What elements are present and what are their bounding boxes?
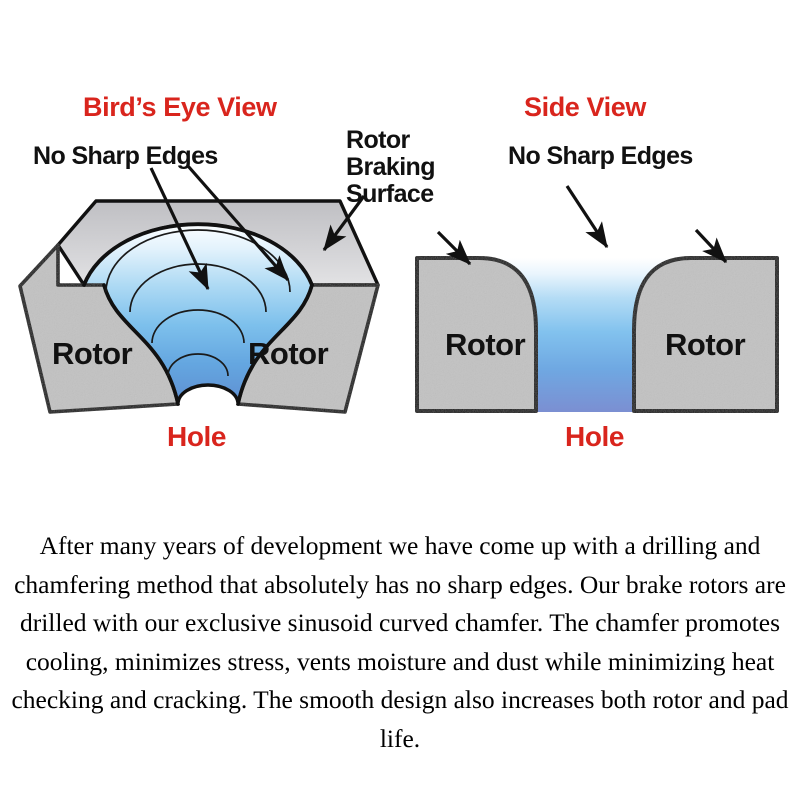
birds-eye-rotor-label-left: Rotor [52,336,133,371]
rotor-chamfer-figure: Bird’s Eye View No Sharp Edges Rotor Bra… [0,0,800,500]
side-view-no-sharp-edges-label: No Sharp Edges [508,142,693,170]
birds-eye-hole-label: Hole [167,421,226,452]
rotor-braking-surface-label-line3: Surface [346,180,434,208]
birds-eye-view-heading: Bird’s Eye View [83,92,278,122]
leader-arrow-side-center-edge [567,186,607,247]
birds-eye-view-graphic [20,166,378,412]
side-view-rotor-label-left: Rotor [445,327,526,362]
birds-eye-rotor-label-right: Rotor [248,336,329,371]
side-view-hole-label: Hole [565,421,624,452]
side-view-rotor-label-right: Rotor [665,327,746,362]
description-paragraph: After many years of development we have … [8,527,792,759]
side-view-heading: Side View [524,92,647,122]
rotor-braking-surface-label-line2: Braking [346,153,435,181]
side-view-graphic [417,186,777,412]
diagram-page: Bird’s Eye View No Sharp Edges Rotor Bra… [0,0,800,800]
rotor-braking-surface-label-line1: Rotor [346,126,411,154]
birds-eye-no-sharp-edges-label: No Sharp Edges [33,142,218,170]
